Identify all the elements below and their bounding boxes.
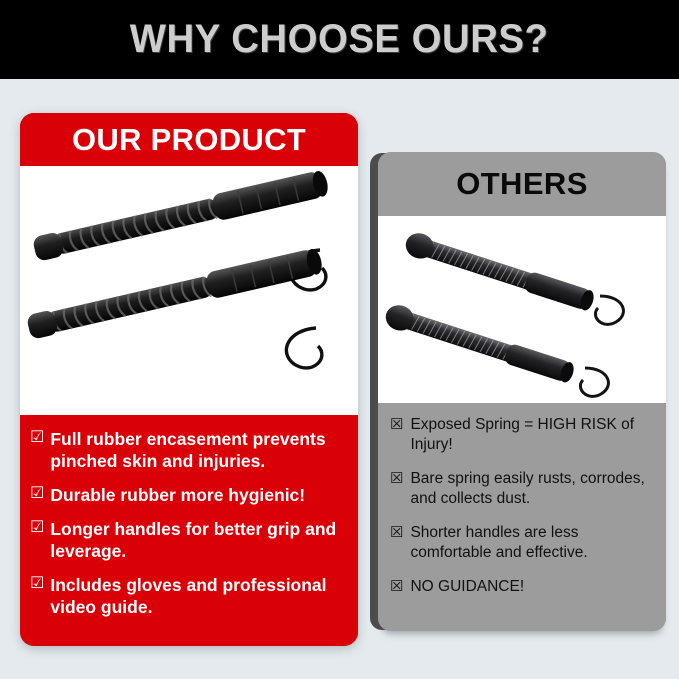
list-item: ☒ Bare spring easily rusts, corrodes, an… — [390, 469, 652, 510]
our-product-photo — [20, 166, 358, 415]
crossbox-icon: ☒ — [390, 523, 403, 543]
others-drawback-list: ☒ Exposed Spring = HIGH RISK of Injury! … — [378, 403, 666, 631]
checkbox-icon: ☑ — [30, 484, 44, 505]
list-item-text: NO GUIDANCE! — [410, 577, 524, 597]
list-item: ☑ Durable rubber more hygienic! — [30, 484, 346, 506]
crossbox-icon: ☒ — [390, 577, 403, 597]
rubber-encased-batons-illustration — [20, 166, 358, 415]
list-item-text: Longer handles for better grip and lever… — [50, 518, 346, 562]
our-product-card: OUR PRODUCT — [20, 113, 358, 646]
checkbox-icon: ☑ — [30, 428, 44, 449]
page-banner: WHY CHOOSE OURS? — [0, 0, 679, 79]
list-item-text: Exposed Spring = HIGH RISK of Injury! — [410, 415, 652, 456]
checkbox-icon: ☑ — [30, 518, 44, 539]
our-product-card-title: OUR PRODUCT — [72, 122, 306, 158]
list-item: ☑ Longer handles for better grip and lev… — [30, 518, 346, 562]
others-card-header: OTHERS — [378, 152, 666, 216]
list-item: ☑ Includes gloves and professional video… — [30, 574, 346, 618]
list-item: ☒ Shorter handles are less comfortable a… — [390, 523, 652, 564]
list-item-text: Includes gloves and professional video g… — [50, 574, 346, 618]
crossbox-icon: ☒ — [390, 469, 403, 489]
checkbox-icon: ☑ — [30, 574, 44, 595]
our-product-benefit-list: ☑ Full rubber encasement prevents pinche… — [20, 415, 358, 646]
page-title: WHY CHOOSE OURS? — [130, 17, 549, 62]
list-item-text: Durable rubber more hygienic! — [50, 484, 305, 506]
list-item-text: Shorter handles are less comfortable and… — [410, 523, 652, 564]
others-card-title: OTHERS — [456, 166, 588, 202]
list-item: ☒ Exposed Spring = HIGH RISK of Injury! — [390, 415, 652, 456]
list-item-text: Bare spring easily rusts, corrodes, and … — [410, 469, 652, 510]
crossbox-icon: ☒ — [390, 415, 403, 435]
our-product-card-header: OUR PRODUCT — [20, 113, 358, 166]
exposed-spring-batons-illustration — [378, 216, 666, 403]
others-card: OTHERS — [378, 152, 666, 631]
list-item: ☒ NO GUIDANCE! — [390, 577, 652, 597]
others-product-photo — [378, 216, 666, 403]
list-item-text: Full rubber encasement prevents pinched … — [50, 428, 346, 472]
list-item: ☑ Full rubber encasement prevents pinche… — [30, 428, 346, 472]
